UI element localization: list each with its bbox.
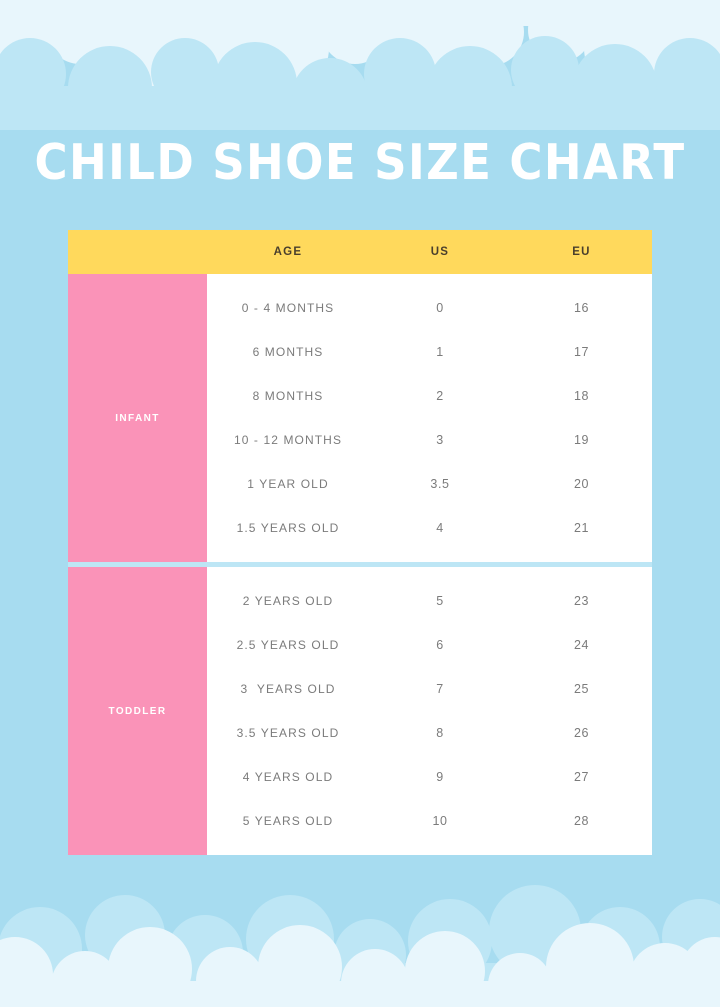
table-row: 1.5 YEARS OLD 4 21: [207, 506, 652, 550]
cell-eu: 18: [511, 389, 652, 403]
cell-eu: 21: [511, 521, 652, 535]
cell-eu: 20: [511, 477, 652, 491]
table-row: 0 - 4 MONTHS 0 16: [207, 286, 652, 330]
category-label-infant: INFANT: [68, 274, 207, 562]
cell-age: 8 MONTHS: [207, 389, 369, 403]
table-row: 6 MONTHS 1 17: [207, 330, 652, 374]
section-rows-infant: 0 - 4 MONTHS 0 16 6 MONTHS 1 17 8 MONTHS…: [207, 274, 652, 562]
cell-eu: 25: [511, 682, 652, 696]
bottom-cloud-decoration: [0, 877, 720, 1007]
cell-age: 2 YEARS OLD: [207, 594, 369, 608]
clouds-icon: [0, 0, 720, 130]
cell-age: 10 - 12 MONTHS: [207, 433, 369, 447]
top-cloud-decoration: [0, 0, 720, 130]
cell-us: 1: [369, 345, 511, 359]
table-row: 8 MONTHS 2 18: [207, 374, 652, 418]
table-row: 3.5 YEARS OLD 8 26: [207, 711, 652, 755]
cell-eu: 28: [511, 814, 652, 828]
cell-eu: 16: [511, 301, 652, 315]
table-header-row: AGE US EU: [68, 230, 652, 274]
header-cell-us: US: [369, 246, 511, 258]
table-row: 2 YEARS OLD 5 23: [207, 579, 652, 623]
cell-us: 4: [369, 521, 511, 535]
cell-eu: 19: [511, 433, 652, 447]
table-section-infant: INFANT 0 - 4 MONTHS 0 16 6 MONTHS 1 17 8…: [68, 274, 652, 562]
clouds-icon: [0, 877, 720, 1007]
category-label-toddler: TODDLER: [68, 567, 207, 855]
cell-us: 5: [369, 594, 511, 608]
cell-us: 2: [369, 389, 511, 403]
cell-us: 9: [369, 770, 511, 784]
cell-age: 6 MONTHS: [207, 345, 369, 359]
table-row: 1 YEAR OLD 3.5 20: [207, 462, 652, 506]
header-cell-eu: EU: [511, 246, 652, 258]
cell-eu: 26: [511, 726, 652, 740]
table-row: 10 - 12 MONTHS 3 19: [207, 418, 652, 462]
cell-eu: 17: [511, 345, 652, 359]
table-row: 2.5 YEARS OLD 6 24: [207, 623, 652, 667]
table-row: 5 YEARS OLD 10 28: [207, 799, 652, 843]
shoe-size-table: AGE US EU INFANT 0 - 4 MONTHS 0 16 6 MON…: [68, 230, 652, 855]
cell-age: 5 YEARS OLD: [207, 814, 369, 828]
cell-us: 0: [369, 301, 511, 315]
header-cell-age: AGE: [207, 246, 369, 258]
cell-age: 4 YEARS OLD: [207, 770, 369, 784]
cell-eu: 27: [511, 770, 652, 784]
table-section-toddler: TODDLER 2 YEARS OLD 5 23 2.5 YEARS OLD 6…: [68, 567, 652, 855]
cell-us: 7: [369, 682, 511, 696]
table-row: 3 YEARS OLD 7 25: [207, 667, 652, 711]
cell-eu: 23: [511, 594, 652, 608]
cell-age: 1 YEAR OLD: [207, 477, 369, 491]
section-rows-toddler: 2 YEARS OLD 5 23 2.5 YEARS OLD 6 24 3 YE…: [207, 567, 652, 855]
cell-us: 10: [369, 814, 511, 828]
cell-age: 2.5 YEARS OLD: [207, 638, 369, 652]
cell-age: 0 - 4 MONTHS: [207, 301, 369, 315]
cell-us: 3: [369, 433, 511, 447]
cell-age: 3 YEARS OLD: [207, 682, 369, 696]
cell-us: 3.5: [369, 477, 511, 491]
cell-age: 1.5 YEARS OLD: [207, 521, 369, 535]
table-row: 4 YEARS OLD 9 27: [207, 755, 652, 799]
page-title: CHILD SHOE SIZE CHART: [29, 133, 691, 193]
cell-age: 3.5 YEARS OLD: [207, 726, 369, 740]
cell-eu: 24: [511, 638, 652, 652]
cell-us: 6: [369, 638, 511, 652]
cell-us: 8: [369, 726, 511, 740]
